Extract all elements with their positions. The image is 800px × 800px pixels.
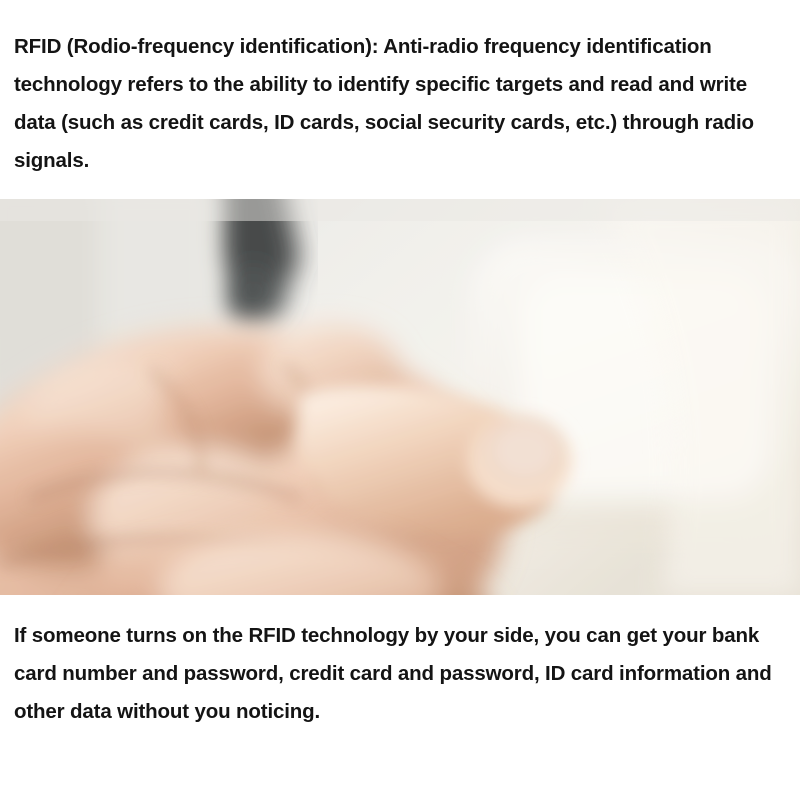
- intro-paragraph: RFID (Rodio-frequency identification): A…: [14, 28, 786, 180]
- banner-photo-graphic: [0, 199, 800, 595]
- warning-paragraph: If someone turns on the RFID technology …: [14, 617, 786, 731]
- rfid-banner-image: RFID RFID: [0, 199, 800, 595]
- document-page: RFID (Rodio-frequency identification): A…: [0, 0, 800, 800]
